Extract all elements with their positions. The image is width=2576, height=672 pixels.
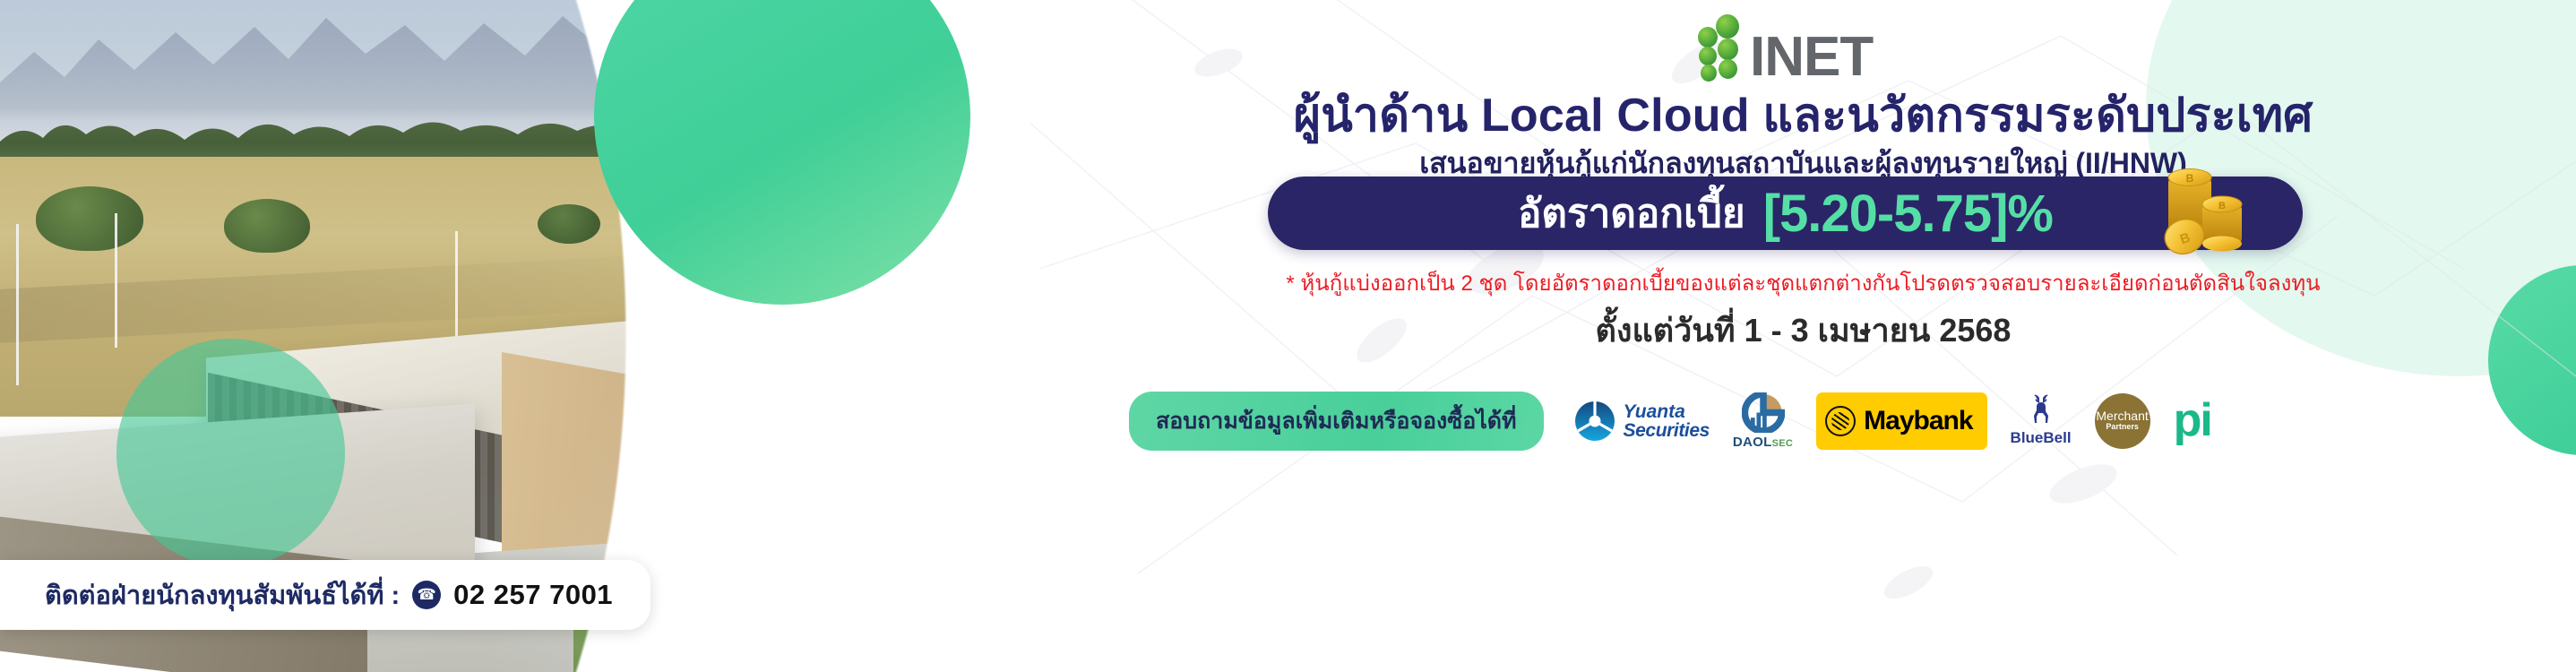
interest-rate-value: [5.20-5.75]% xyxy=(1763,184,2053,244)
partner-logo-bluebell[interactable]: BlueBell xyxy=(2011,392,2072,450)
partner-logo-daol[interactable]: DAOLSEC xyxy=(1733,392,1793,450)
contact-cta-button[interactable]: สอบถามข้อมูลเพิ่มเติมหรือจองซื้อได้ที่ xyxy=(1129,392,1544,451)
contact-label: ติดต่อฝ่ายนักลงทุนสัมพันธ์ได้ที่ : xyxy=(45,574,400,616)
partner-logo-merchant[interactable]: Merchant Partners xyxy=(2095,392,2150,450)
promotional-banner: INET ผู้นำด้าน Local Cloud และนวัตกรรมระ… xyxy=(0,0,2576,672)
banner-content: INET ผู้นำด้าน Local Cloud และนวัตกรรมระ… xyxy=(1030,0,2576,672)
phone-icon: ☎ xyxy=(412,581,441,609)
svg-text:B: B xyxy=(2218,201,2226,211)
contact-phone-number[interactable]: 02 257 7001 xyxy=(453,579,613,611)
daol-name: DAOL xyxy=(1733,435,1772,450)
inet-logo: INET xyxy=(1698,13,1873,82)
maybank-wordmark: Maybank xyxy=(1864,406,1972,436)
maybank-tiger-icon xyxy=(1825,406,1856,436)
merchant-circle-icon: Merchant Partners xyxy=(2095,393,2150,449)
bluebell-deer-icon xyxy=(2023,392,2059,428)
yuanta-line2: Securities xyxy=(1624,421,1710,440)
daol-pie-icon xyxy=(1742,392,1785,433)
svg-text:B: B xyxy=(2186,172,2194,185)
inet-wordmark: INET xyxy=(1750,31,1873,82)
offer-period: ตั้งแต่วันที่ 1 - 3 เมษายน 2568 xyxy=(1030,305,2576,356)
investor-relations-contact-card[interactable]: ติดต่อฝ่ายนักลงทุนสัมพันธ์ได้ที่ : ☎ 02 … xyxy=(0,560,650,630)
cta-and-partners-row: สอบถามข้อมูลเพิ่มเติมหรือจองซื้อได้ที่ xyxy=(1129,390,2527,452)
merchant-line2: Partners xyxy=(2106,422,2139,433)
yuanta-wordmark: Yuanta Securities xyxy=(1624,402,1710,440)
green-circle-overlay xyxy=(116,339,345,567)
bitcoin-coins-icon: B B B xyxy=(2141,158,2258,256)
partner-logo-pi[interactable]: pi xyxy=(2174,392,2211,450)
partner-logos: Yuanta Securities DAOLSEC xyxy=(1574,392,2211,450)
merchant-line1: Merchant xyxy=(2096,409,2148,422)
daol-sec: SEC xyxy=(1772,438,1794,449)
inet-dots-icon xyxy=(1698,13,1745,82)
yuanta-star-icon xyxy=(1574,401,1615,442)
daol-wordmark: DAOLSEC xyxy=(1733,435,1793,450)
pi-wordmark: pi xyxy=(2174,402,2211,440)
disclaimer-note: * หุ้นกู้แบ่งออกเป็น 2 ชุด โดยอัตราดอกเบ… xyxy=(1030,265,2576,300)
bluebell-wordmark: BlueBell xyxy=(2011,429,2072,447)
yuanta-line1: Yuanta xyxy=(1624,402,1710,421)
partner-logo-maybank[interactable]: Maybank xyxy=(1816,392,1986,450)
partner-logo-yuanta[interactable]: Yuanta Securities xyxy=(1574,392,1710,450)
interest-rate-label: อัตราดอกเบี้ย xyxy=(1518,182,1745,245)
